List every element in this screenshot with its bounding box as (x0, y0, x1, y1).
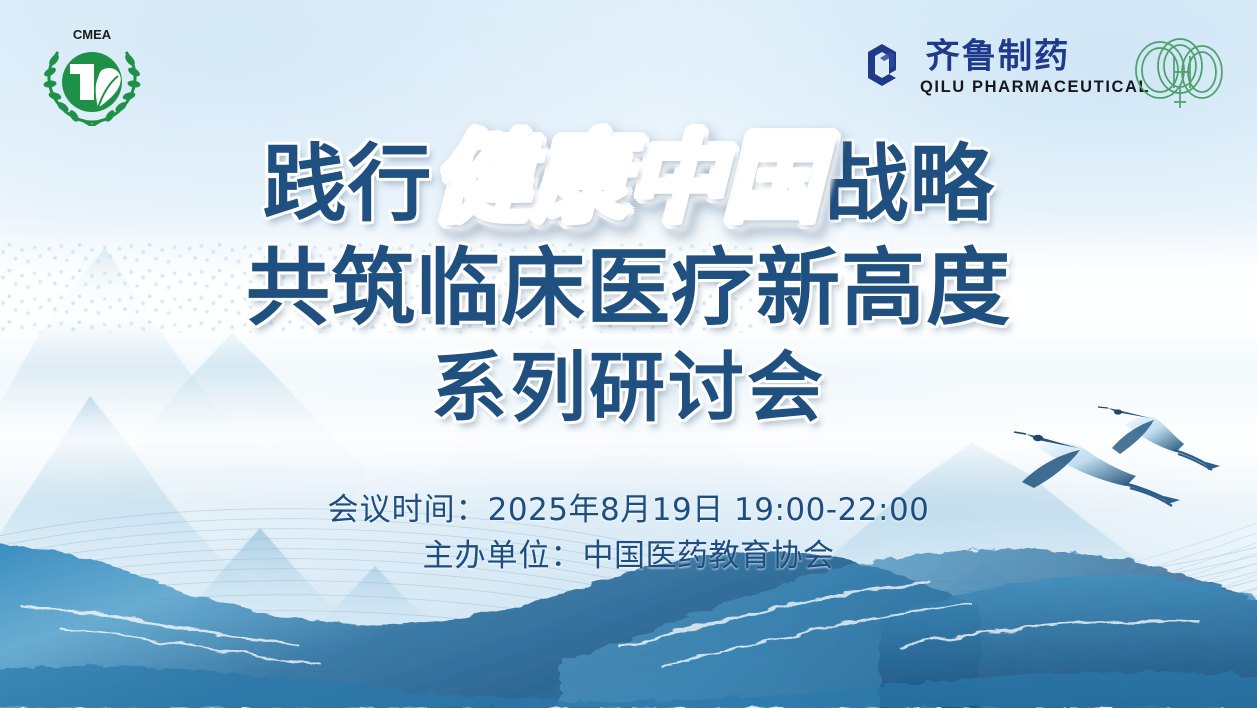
poster-title-block: 践行健康中国战略 共筑临床医疗新高度 系列研讨会 (0, 132, 1257, 434)
conference-poster: CMEA (0, 0, 1257, 708)
chp-emblem-icon (1128, 30, 1232, 114)
event-time-label: 会议时间： (328, 492, 488, 528)
cmea-logo: CMEA (36, 22, 148, 126)
cmea-emblem-icon: CMEA (36, 22, 148, 126)
title-line-1: 践行健康中国战略 (0, 132, 1257, 232)
title-line-3: 系列研讨会 (0, 342, 1257, 434)
title-line1-brush: 健康中国 (433, 123, 825, 236)
cmea-acronym: CMEA (73, 27, 112, 42)
qilu-chinese-name: 齐鲁制药 (920, 36, 1152, 76)
title-line1-prefix: 践行 (262, 135, 432, 233)
chp-logo (1128, 30, 1232, 114)
title-line-2: 共筑临床医疗新高度 (0, 238, 1257, 338)
event-time-value: 2025年8月19日 19:00-22:00 (488, 492, 930, 528)
event-host-label: 主办单位： (423, 538, 583, 574)
event-info-block: 会议时间：2025年8月19日 19:00-22:00 主办单位：中国医药教育协… (0, 487, 1257, 579)
svg-text:齐鲁制药: 齐鲁制药 (926, 36, 1071, 76)
title-line1-suffix: 战略 (825, 135, 995, 233)
event-host-value: 中国医药教育协会 (583, 538, 835, 574)
qilu-english-name: QILU PHARMACEUTICAL (920, 79, 1152, 96)
qilu-pharmaceutical-logo: 齐鲁制药 QILU PHARMACEUTICAL (856, 36, 1152, 96)
event-time-row: 会议时间：2025年8月19日 19:00-22:00 (0, 487, 1257, 533)
event-host-row: 主办单位：中国医药教育协会 (0, 533, 1257, 579)
qilu-mark-icon (856, 40, 908, 92)
